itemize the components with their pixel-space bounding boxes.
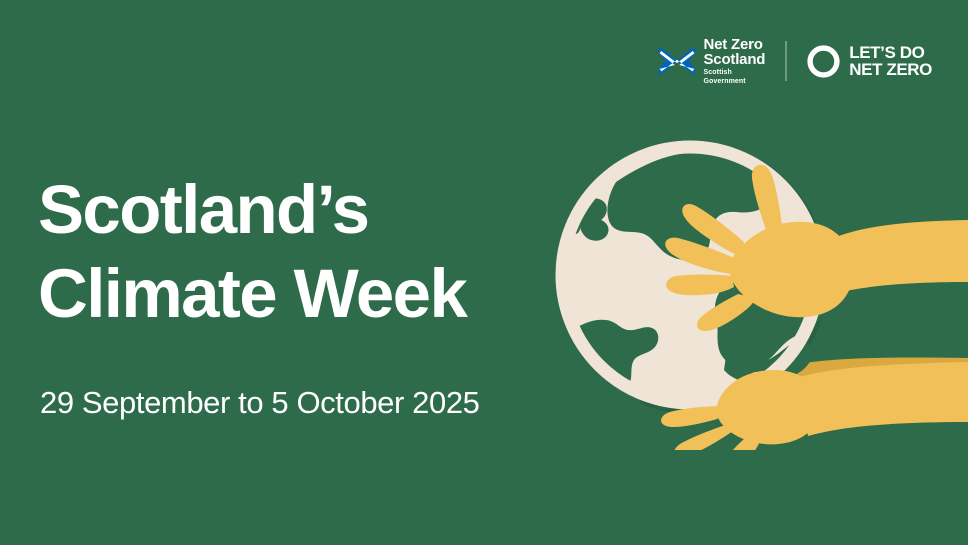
- net-zero-scotland-logo: Net Zero Scotland Scottish Government: [658, 37, 766, 85]
- page-title: Scotland’s Climate Week: [38, 168, 466, 336]
- ldnz-line1: LET’S DO: [849, 44, 932, 61]
- scottish-government-line1: Scottish: [704, 69, 766, 76]
- scottish-government-line2: Government: [704, 78, 766, 85]
- ring-circle-icon: [807, 45, 840, 78]
- net-zero-line1: Net Zero: [704, 37, 766, 52]
- saltire-flag-icon: [658, 46, 696, 76]
- ldnz-line2: NET ZERO: [849, 61, 932, 78]
- lets-do-net-zero-logo: LET’S DO NET ZERO: [807, 44, 932, 79]
- event-date-range: 29 September to 5 October 2025: [40, 385, 480, 421]
- globe-with-hands-graphic: [530, 110, 968, 450]
- logo-bar: Net Zero Scotland Scottish Government LE…: [658, 38, 933, 84]
- net-zero-scotland-wordmark: Net Zero Scotland Scottish Government: [704, 37, 766, 85]
- climate-week-banner: Net Zero Scotland Scottish Government LE…: [0, 0, 968, 545]
- hands-holding-globe-illustration: [530, 110, 968, 450]
- net-zero-line2: Scotland: [704, 52, 766, 67]
- headline-line-2: Climate Week: [38, 252, 466, 336]
- headline-line-1: Scotland’s: [38, 168, 466, 252]
- lower-arm: [796, 362, 968, 436]
- lets-do-net-zero-wordmark: LET’S DO NET ZERO: [849, 44, 932, 79]
- logo-divider: [785, 41, 787, 81]
